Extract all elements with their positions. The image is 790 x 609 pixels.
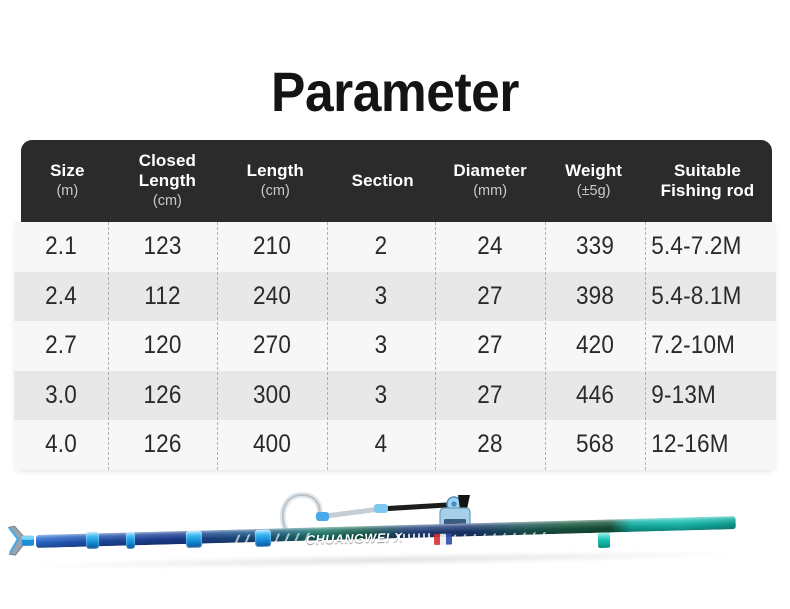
table-row: 3.0 126 300 3 27 446 9-13M: [14, 371, 776, 421]
table-row: 2.7 120 270 3 27 420 7.2-10M: [14, 321, 776, 371]
forked-tip-icon: [6, 525, 37, 558]
cell-weight: 398: [550, 282, 640, 311]
table-body: 2.1 123 210 2 24 339 5.4-7.2M 2.4 112 24…: [14, 222, 776, 470]
shaft-decal: [398, 533, 432, 545]
product-photo: CHUANGWEI X: [0, 475, 790, 609]
shaft-flag-decal: [434, 534, 452, 545]
table-header-cell-section: Section: [329, 171, 435, 192]
table-header-cell-closed-length: Closed Length (cm): [114, 151, 221, 211]
cell-length: 210: [223, 232, 322, 261]
header-label: Section: [352, 171, 414, 191]
header-label: Size: [50, 161, 84, 181]
header-label: Closed Length: [116, 151, 219, 191]
cell-closed-length: 126: [113, 430, 211, 459]
cell-size: 3.0: [19, 381, 104, 410]
cell-length: 240: [223, 282, 322, 311]
table-row: 4.0 126 400 4 28 568 12-16M: [14, 420, 776, 470]
table-header-cell-weight: Weight (±5g): [544, 161, 643, 201]
header-unit: (cm): [153, 192, 182, 211]
cell-size: 2.4: [19, 282, 104, 311]
cell-diameter: 27: [441, 331, 540, 360]
table-row: 2.1 123 210 2 24 339 5.4-7.2M: [14, 222, 776, 272]
brand-label: CHUANGWEI X: [306, 530, 403, 547]
cell-diameter: 28: [441, 430, 540, 459]
cell-suitable: 7.2-10M: [645, 331, 763, 360]
shaft-collar: [126, 532, 135, 549]
shaft-collar: [186, 531, 202, 548]
table-header-cell-length: Length (cm): [221, 161, 329, 201]
cell-length: 400: [223, 430, 322, 459]
header-label: Diameter: [453, 161, 527, 181]
cell-weight: 420: [550, 331, 640, 360]
cell-section: 3: [332, 282, 429, 311]
table-header-row: Size (m) Closed Length (cm) Length (cm) …: [21, 140, 772, 222]
header-unit: (±5g): [577, 182, 611, 201]
header-label: Weight: [565, 161, 622, 181]
page-title: Parameter: [32, 60, 759, 124]
table-row: 2.4 112 240 3 27 398 5.4-8.1M: [14, 272, 776, 322]
shaft-decal: [630, 533, 656, 545]
cell-section: 3: [332, 331, 429, 360]
cell-size: 2.7: [19, 331, 104, 360]
handle-collar: [598, 533, 610, 548]
cell-diameter: 27: [441, 381, 540, 410]
table-header-cell-size: Size (m): [21, 161, 114, 201]
cell-suitable: 5.4-8.1M: [645, 282, 763, 311]
specification-table: Size (m) Closed Length (cm) Length (cm) …: [14, 140, 776, 470]
table-header-cell-diameter: Diameter (mm): [436, 161, 544, 201]
cell-length: 300: [223, 381, 322, 410]
table-header-cell-suitable-fishing-rod: Suitable Fishing rod: [643, 161, 772, 201]
cell-size: 4.0: [19, 430, 104, 459]
cell-diameter: 24: [441, 232, 540, 261]
cell-suitable: 5.4-7.2M: [645, 232, 763, 261]
cell-suitable: 9-13M: [645, 381, 763, 410]
cell-section: 3: [332, 381, 429, 410]
cell-section: 2: [332, 232, 429, 261]
cell-closed-length: 112: [113, 282, 211, 311]
chevron-decal: [232, 533, 314, 548]
header-unit: (mm): [473, 182, 507, 201]
cell-closed-length: 126: [113, 381, 211, 410]
cell-weight: 568: [550, 430, 640, 459]
header-unit: (cm): [261, 182, 290, 201]
cell-section: 4: [332, 430, 429, 459]
cell-weight: 339: [550, 232, 640, 261]
header-unit: (m): [56, 182, 78, 201]
cell-size: 2.1: [19, 232, 104, 261]
fishing-gaff-illustration: CHUANGWEI X: [0, 475, 790, 609]
cell-suitable: 12-16M: [645, 430, 763, 459]
header-label: Suitable Fishing rod: [645, 161, 770, 201]
cell-closed-length: 120: [113, 331, 211, 360]
cell-diameter: 27: [441, 282, 540, 311]
cell-length: 270: [223, 331, 322, 360]
cell-closed-length: 123: [113, 232, 211, 261]
shaft-collar: [86, 532, 99, 549]
cell-weight: 446: [550, 381, 640, 410]
header-label: Length: [247, 161, 304, 181]
chevron-decal: [438, 532, 550, 548]
shaft-collar: [255, 530, 271, 547]
